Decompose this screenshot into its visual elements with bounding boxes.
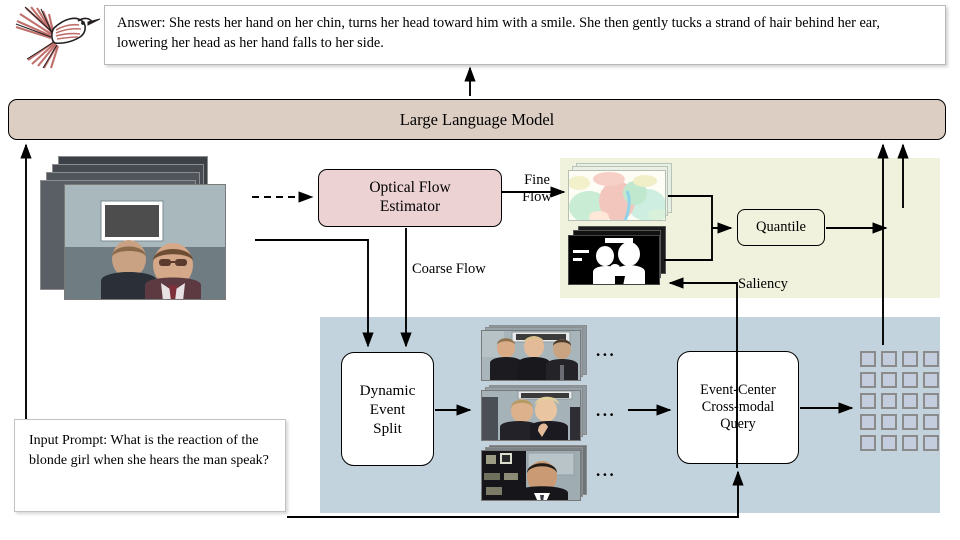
input-prompt-box[interactable]: Input Prompt: What is the reaction of th… (14, 419, 286, 512)
event-center-cross-modal-query-box[interactable]: Event-Center Cross-modal Query (677, 351, 799, 464)
answer-text: Answer: She rests her hand on her chin, … (117, 15, 880, 51)
des-label-line1: Dynamic (360, 381, 416, 400)
eccq-label-line1: Event-Center (700, 382, 776, 399)
fine-flow-label: Fine Flow (510, 172, 564, 206)
input-prompt-text: Input Prompt: What is the reaction of th… (29, 433, 269, 468)
llm-label: Large Language Model (400, 110, 555, 130)
des-label-line2: Event (370, 400, 405, 419)
eccq-label-line2: Cross-modal (702, 399, 775, 416)
ofe-label-line2: Estimator (380, 198, 440, 217)
token-cell (881, 372, 897, 388)
token-feature-grid (860, 351, 939, 451)
token-cell (881, 414, 897, 430)
optical-flow-field-stack (568, 163, 678, 223)
token-cell (860, 435, 876, 451)
token-cell (923, 414, 939, 430)
token-cell (860, 372, 876, 388)
token-cell (902, 372, 918, 388)
hummingbird-logo (8, 2, 100, 70)
fine-flow-label-line1: Fine (510, 172, 564, 189)
token-cell (923, 435, 939, 451)
ellipsis-clip-3: ... (596, 461, 616, 481)
token-cell (902, 414, 918, 430)
event-clip-thumbnail-3 (481, 445, 601, 503)
token-cell (860, 351, 876, 367)
token-cell (881, 435, 897, 451)
fine-flow-label-line2: Flow (510, 189, 564, 206)
token-cell (923, 372, 939, 388)
token-cell (860, 393, 876, 409)
token-cell (923, 393, 939, 409)
saliency-label: Saliency (738, 276, 788, 293)
token-cell (902, 435, 918, 451)
des-label-line3: Split (373, 419, 402, 438)
event-clip-thumbnail-2 (481, 385, 601, 441)
input-video-frame-stack (40, 156, 250, 306)
saliency-mask-stack (568, 226, 678, 288)
token-cell (902, 351, 918, 367)
ofe-label-line1: Optical Flow (369, 179, 450, 198)
coarse-flow-label: Coarse Flow (412, 261, 486, 278)
answer-box: Answer: She rests her hand on her chin, … (104, 5, 946, 65)
token-cell (881, 351, 897, 367)
ellipsis-clip-2: ... (596, 401, 616, 421)
token-cell (923, 351, 939, 367)
eccq-label-line3: Query (720, 416, 755, 433)
large-language-model-block[interactable]: Large Language Model (8, 99, 946, 140)
token-cell (902, 393, 918, 409)
event-clip-thumbnail-1 (481, 325, 601, 381)
quantile-box[interactable]: Quantile (737, 209, 825, 246)
token-cell (860, 414, 876, 430)
ellipsis-clip-1: ... (596, 341, 616, 361)
dynamic-event-split-box[interactable]: Dynamic Event Split (341, 352, 434, 466)
optical-flow-estimator-box[interactable]: Optical Flow Estimator (318, 169, 502, 227)
quantile-label: Quantile (756, 219, 806, 236)
token-cell (881, 393, 897, 409)
